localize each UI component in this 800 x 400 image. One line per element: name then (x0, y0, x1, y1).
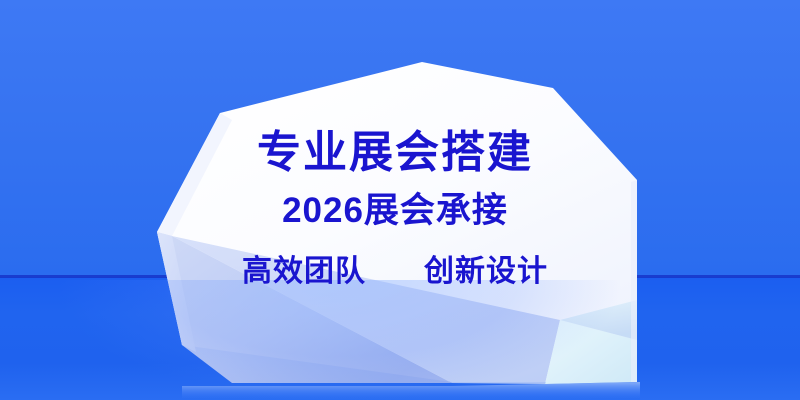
feature-item-2: 创新设计 (424, 254, 548, 290)
banner-title: 专业展会搭建 (150, 128, 640, 177)
banner-text-block: 专业展会搭建 2026展会承接 高效团队 创新设计 (150, 128, 640, 290)
feature-item-1: 高效团队 (242, 254, 366, 290)
banner-features: 高效团队 创新设计 (150, 254, 640, 290)
banner-subtitle: 2026展会承接 (150, 190, 640, 232)
promo-banner: 专业展会搭建 2026展会承接 高效团队 创新设计 (0, 0, 800, 400)
podium-reflection (182, 382, 640, 400)
